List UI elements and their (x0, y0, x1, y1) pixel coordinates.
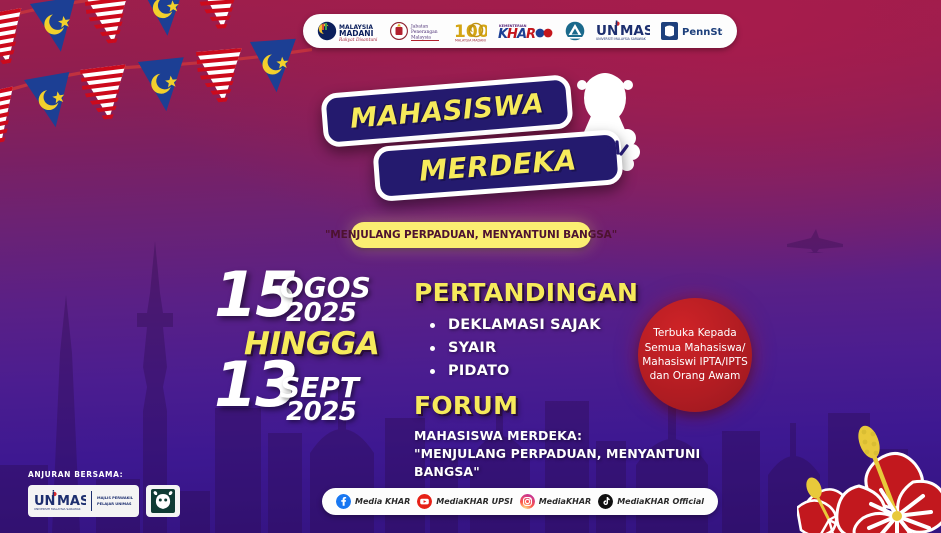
svg-text:UNIVERSITI MALAYSIA SARAWAK: UNIVERSITI MALAYSIA SARAWAK (34, 507, 81, 511)
poster-canvas: MALAYSIA MADANI Rakyat Disantuni Jabatan… (0, 0, 941, 533)
airplane-silhouette (785, 227, 847, 253)
jabatan-penerangan-logo: Jabatan Penerangan Malaysia (390, 19, 442, 43)
merdeka-100-logo: 100 MALAYSIA MADANI (453, 19, 487, 43)
khar-logo: KEMENTERIAN K H A R (498, 19, 554, 43)
title-line-2: MERDEKA (418, 143, 578, 187)
organisers-section: ANJURAN BERSAMA: UN i MAS UNIVERSITI MAL… (28, 470, 180, 517)
svg-text:MADANI: MADANI (339, 29, 374, 38)
sparkle-icon (603, 140, 631, 166)
youtube-icon[interactable] (417, 494, 432, 509)
svg-text:MALAYSIA MADANI: MALAYSIA MADANI (455, 38, 486, 42)
svg-text:R: R (526, 27, 536, 42)
malaysia-flag-bunting (0, 0, 312, 177)
pennstate-logo: PennState (661, 19, 723, 43)
instagram-icon[interactable] (520, 494, 535, 509)
forum-subtitle-line-2: "MENJULANG PERPADUAN, MENYANTUNI BANGSA" (414, 445, 744, 481)
svg-text:i: i (52, 489, 55, 498)
mpp-unimas-wordmark: MAJLIS PERWAKILAN PELAJAR UNIMAS (97, 490, 133, 512)
tagline-pill: "MENJULANG PERPADUAN, MENYANTUNI BANGSA" (351, 222, 591, 248)
hibiscus-flower-decoration (797, 424, 941, 533)
tiktok-icon[interactable] (598, 494, 613, 509)
social-handle: MediaKHAR Official (617, 497, 704, 506)
svg-text:Penerangan: Penerangan (411, 30, 438, 35)
svg-text:i: i (615, 20, 618, 29)
sponsor-logo-bar: MALAYSIA MADANI Rakyat Disantuni Jabatan… (303, 14, 737, 48)
svg-text:Rakyat Disantuni: Rakyat Disantuni (338, 38, 378, 42)
svg-text:UNIVERSITI MALAYSIA SARAWAK: UNIVERSITI MALAYSIA SARAWAK (596, 37, 647, 41)
event-dates: 15 OGOS 2025 HINGGA 13 SEPT 2025 (214, 268, 394, 428)
end-year: 2025 (286, 399, 356, 425)
organisers-logo-row: UN i MAS UNIVERSITI MALAYSIA SARAWAK MAJ… (28, 485, 180, 517)
social-handle: MediaKHAR UPSI (436, 497, 512, 506)
social-account-youtube[interactable]: MediaKHAR UPSI (417, 494, 512, 509)
facebook-icon[interactable] (336, 494, 351, 509)
svg-text:Jabatan: Jabatan (410, 25, 428, 30)
tagline-text: "MENJULANG PERPADUAN, MENYANTUNI BANGSA" (325, 229, 617, 241)
social-account-instagram[interactable]: MediaKHAR (520, 494, 592, 509)
svg-text:PennState: PennState (682, 27, 723, 38)
social-handle: Media KHAR (355, 497, 410, 506)
svg-text:PELAJAR UNIMAS: PELAJAR UNIMAS (97, 502, 132, 506)
social-account-facebook[interactable]: Media KHAR (336, 494, 410, 509)
svg-text:MAJLIS PERWAKILAN: MAJLIS PERWAKILAN (97, 496, 133, 500)
mpp-crest-logo (150, 488, 176, 514)
forum-subtitle-line-1: MAHASISWA MERDEKA: (414, 427, 744, 445)
unimas-mpp-logo-card: UN i MAS UNIVERSITI MALAYSIA SARAWAK MAJ… (28, 485, 139, 517)
unimas-logo: UN MAS i UNIVERSITI MALAYSIA SARAWAK (596, 19, 650, 43)
start-year: 2025 (286, 300, 356, 326)
organisers-label: ANJURAN BERSAMA: (28, 470, 180, 479)
unimas-logo: UN i MAS UNIVERSITI MALAYSIA SARAWAK (34, 489, 86, 513)
forum-subtitle: MAHASISWA MERDEKA: "MENJULANG PERPADUAN,… (414, 427, 744, 481)
eligibility-text: Terbuka Kepada Semua Mahasiswa/ Mahasisw… (638, 326, 752, 384)
social-handle: MediaKHAR (539, 497, 592, 506)
malaysia-madani-logo: MALAYSIA MADANI Rakyat Disantuni (317, 19, 379, 43)
mpp-unimas-logo (565, 19, 585, 43)
eligibility-badge: Terbuka Kepada Semua Mahasiswa/ Mahasisw… (638, 298, 752, 412)
svg-text:Malaysia: Malaysia (411, 36, 431, 41)
social-account-tiktok[interactable]: MediaKHAR Official (598, 494, 704, 509)
social-media-bar: Media KHAR MediaKHAR UPSI (322, 488, 718, 515)
title-line-1: MAHASISWA (349, 88, 545, 134)
event-title: MAHASISWA MERDEKA (318, 78, 638, 203)
mpp-crest-logo-card (146, 485, 180, 517)
